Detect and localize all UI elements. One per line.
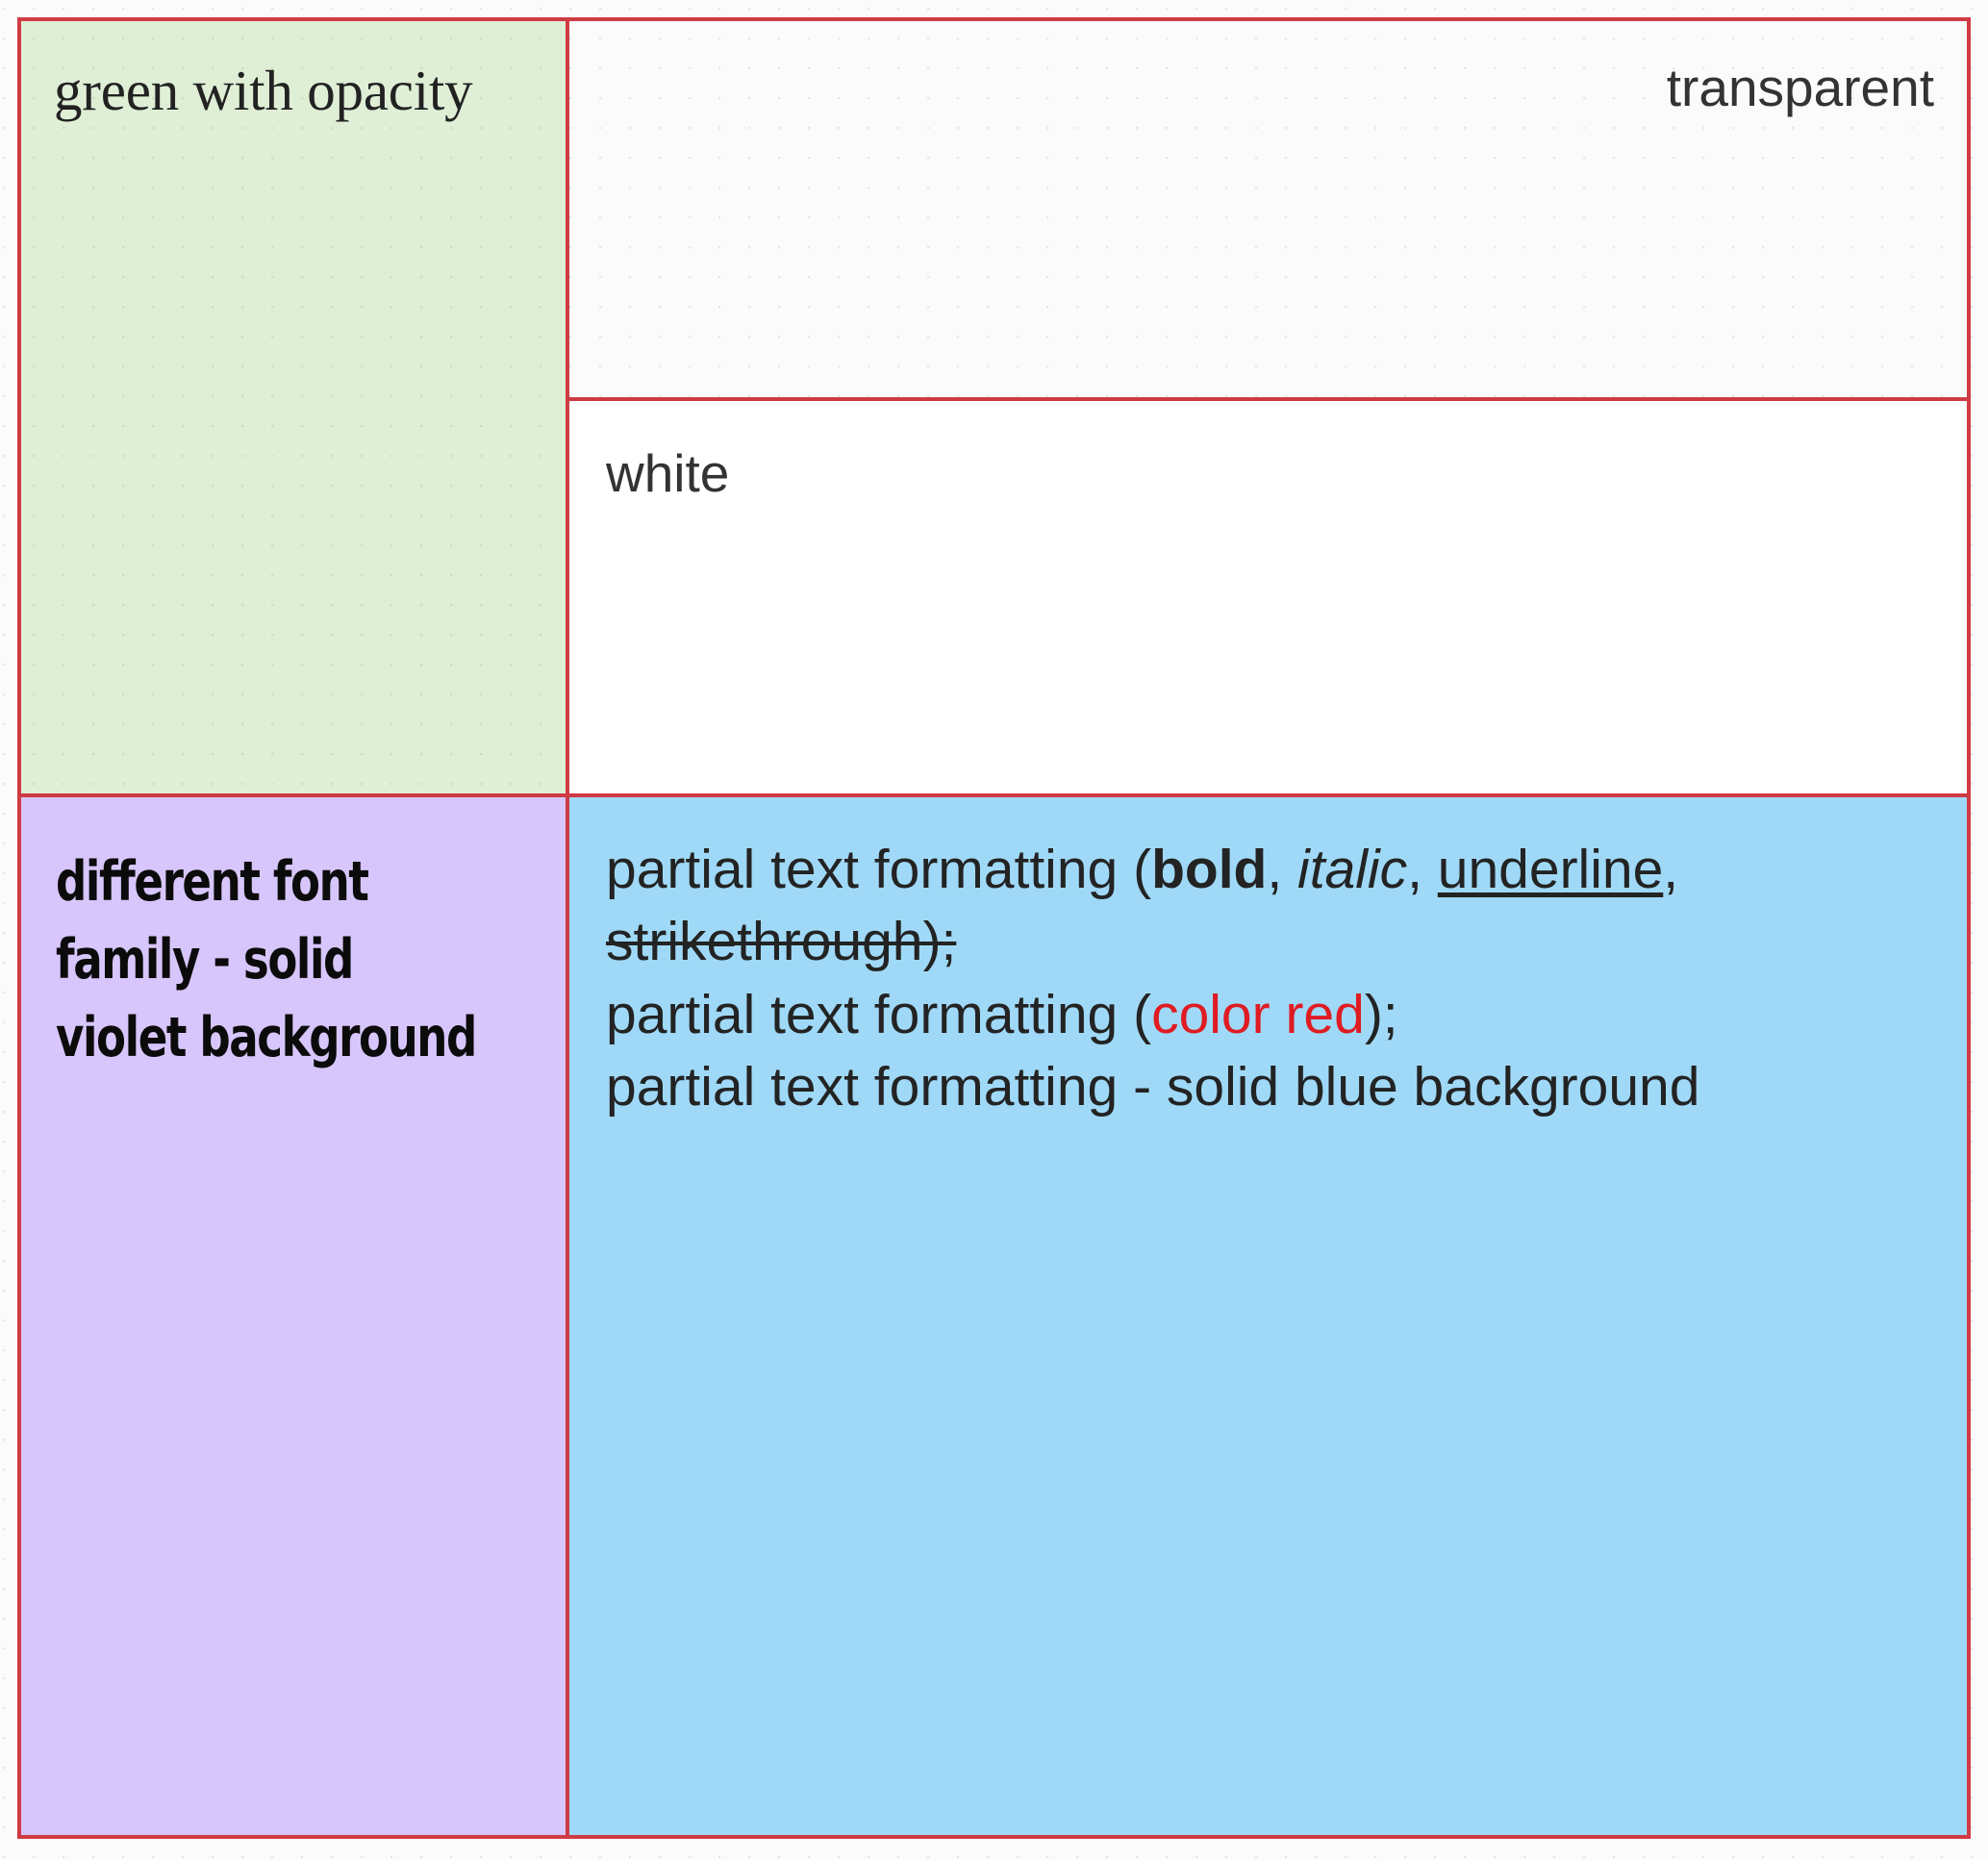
text-segment-italic: italic xyxy=(1297,839,1407,900)
paragraph-inline-styles: partial text formatting (bold, italic, u… xyxy=(606,834,1938,978)
text-segment-bold: bold xyxy=(1151,839,1267,900)
paragraph-color-red: partial text formatting (color red); xyxy=(606,979,1938,1051)
text-segment-underline: underline xyxy=(1438,839,1664,900)
text-segment-plain: partial text formatting ( xyxy=(606,839,1151,900)
text-segment-plain: , xyxy=(1267,839,1297,900)
green-opacity-cell[interactable]: green with opacity xyxy=(19,19,567,795)
white-label: white xyxy=(606,443,729,503)
text-segment-plain: , xyxy=(1407,839,1438,900)
text-segment-strikethrough: strikethrough); xyxy=(606,911,956,972)
transparent-cell[interactable]: transparent xyxy=(567,19,1969,399)
table-container: green with opacity transparent white dif… xyxy=(17,17,1967,1839)
transparent-label: transparent xyxy=(1667,58,1934,117)
screenshot-canvas: green with opacity transparent white dif… xyxy=(0,0,1988,1860)
text-segment-plain: , xyxy=(1663,839,1678,900)
formatting-demo-table: green with opacity transparent white dif… xyxy=(17,17,1971,1839)
violet-font-label: different font family - solid violet bac… xyxy=(56,843,479,1077)
blue-formatting-cell[interactable]: partial text formatting (bold, italic, u… xyxy=(567,795,1969,1837)
table-row: different font family - solid violet bac… xyxy=(19,795,1969,1837)
green-opacity-label: green with opacity xyxy=(54,59,472,122)
text-segment-plain: partial text formatting ( xyxy=(606,984,1151,1045)
white-cell[interactable]: white xyxy=(567,399,1969,795)
violet-font-cell[interactable]: different font family - solid violet bac… xyxy=(19,795,567,1837)
table-row: green with opacity transparent xyxy=(19,19,1969,399)
text-segment-red: color red xyxy=(1151,984,1365,1045)
text-segment-plain: ); xyxy=(1365,984,1398,1045)
text-segment-plain: partial text formatting - solid blue bac… xyxy=(606,1056,1699,1118)
paragraph-solid-blue: partial text formatting - solid blue bac… xyxy=(606,1051,1938,1123)
